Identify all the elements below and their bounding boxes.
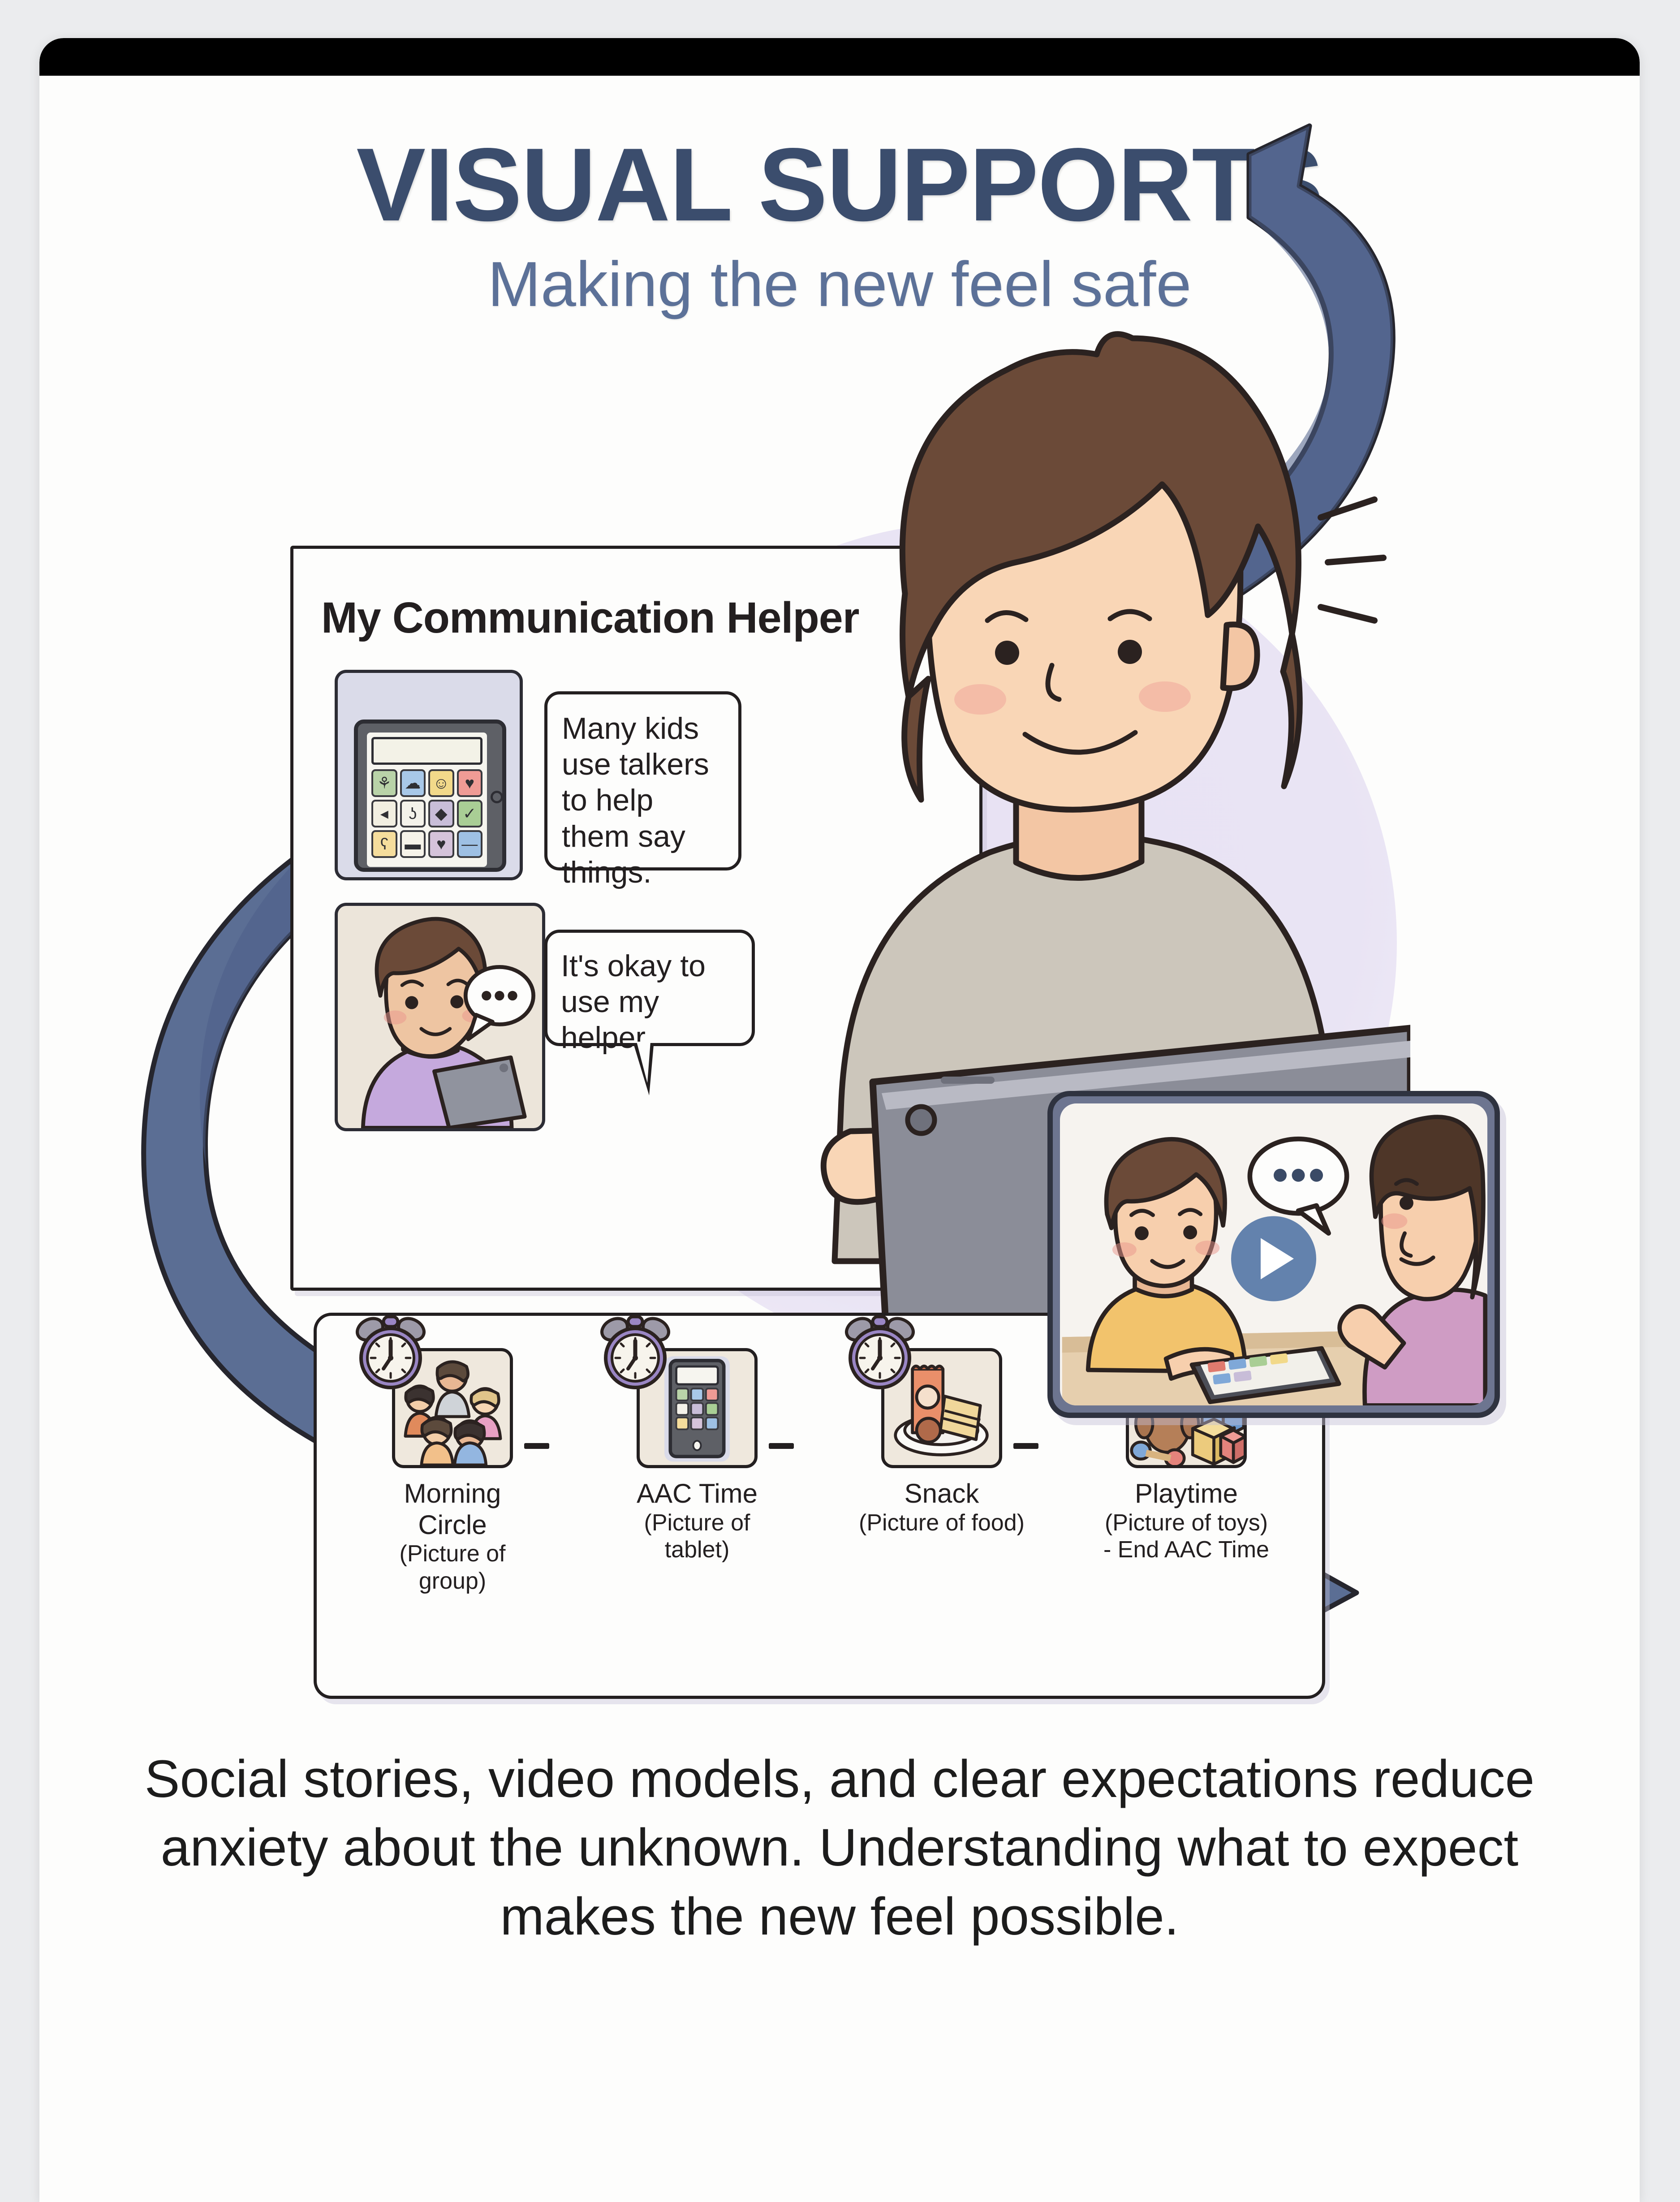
- checkmark-icon[interactable]: ✓: [457, 800, 483, 827]
- drink-icon[interactable]: ◆: [428, 800, 454, 827]
- schedule-item-label: AAC Time: [614, 1478, 780, 1509]
- aac-screen: ⚘☁☺♥◂ʖ◆✓ʕ▬♥—: [367, 733, 487, 867]
- alarm-clock-icon: [350, 1313, 431, 1394]
- schedule-item-note: - End AAC Time: [1103, 1536, 1270, 1563]
- illustration-stage: My Communication Helper ⚘☁☺♥◂ʖ◆✓ʕ▬♥— Man…: [39, 38, 1640, 2202]
- speech-bubble-tail-fill: [637, 1042, 650, 1083]
- smiley-face-icon[interactable]: ☺: [428, 769, 454, 797]
- home-button-icon[interactable]: [491, 791, 503, 803]
- aac-symbol-grid: ⚘☁☺♥◂ʖ◆✓ʕ▬♥—: [371, 769, 482, 858]
- hand-icon[interactable]: ʖ: [400, 800, 426, 827]
- schedule-item-aac-time[interactable]: AAC Time(Picture of tablet): [614, 1348, 780, 1563]
- speaker-mute-icon[interactable]: ▬: [400, 830, 426, 858]
- speaker-loud-icon[interactable]: ◂: [371, 800, 397, 827]
- aac-device: ⚘☁☺♥◂ʖ◆✓ʕ▬♥—: [354, 720, 506, 872]
- speech-bubble-icon[interactable]: ☁: [400, 769, 426, 797]
- person-icon[interactable]: ⚘: [371, 769, 397, 797]
- schedule-item-snack[interactable]: Snack(Picture of food): [858, 1348, 1025, 1536]
- ear-icon[interactable]: ʕ: [371, 830, 397, 858]
- video-model-scene: [1060, 1103, 1487, 1405]
- aac-tablet-tile: ⚘☁☺♥◂ʖ◆✓ʕ▬♥—: [335, 670, 523, 880]
- alarm-clock-icon: [840, 1313, 920, 1394]
- schedule-item-label: Playtime: [1103, 1478, 1270, 1509]
- schedule-item-sublabel: (Picture of tablet): [614, 1509, 780, 1564]
- schedule-connector-dash: [524, 1443, 549, 1449]
- aac-message-bar: [371, 737, 482, 765]
- schedule-item-label: Snack: [858, 1478, 1025, 1509]
- schedule-item-label: Morning Circle: [369, 1478, 536, 1540]
- video-model-card[interactable]: [1047, 1091, 1500, 1418]
- heart-hand-icon[interactable]: ♥: [428, 830, 454, 858]
- schedule-connector-dash: [769, 1443, 794, 1449]
- schedule-item-sublabel: (Picture of group): [369, 1540, 536, 1594]
- device-card: VISUAL SUPPORTS Making the new feel safe: [39, 38, 1640, 2202]
- social-story-text-1: Many kids use talkers to help them say t…: [544, 691, 741, 870]
- schedule-item-sublabel: (Picture of toys): [1103, 1509, 1270, 1536]
- alarm-clock-icon: [595, 1313, 676, 1394]
- neutral-face-icon[interactable]: —: [457, 830, 483, 858]
- schedule-item-morning-circle[interactable]: Morning Circle(Picture of group): [369, 1348, 536, 1594]
- schedule-item-sublabel: (Picture of food): [858, 1509, 1025, 1536]
- play-button-icon[interactable]: [1231, 1216, 1316, 1301]
- schedule-connector-dash: [1013, 1443, 1038, 1449]
- social-story-text-2: It's okay to use my helper.: [544, 930, 755, 1046]
- heart-icon[interactable]: ♥: [457, 769, 483, 797]
- play-triangle: [1261, 1238, 1294, 1280]
- child-with-tablet-illustration: [335, 903, 545, 1131]
